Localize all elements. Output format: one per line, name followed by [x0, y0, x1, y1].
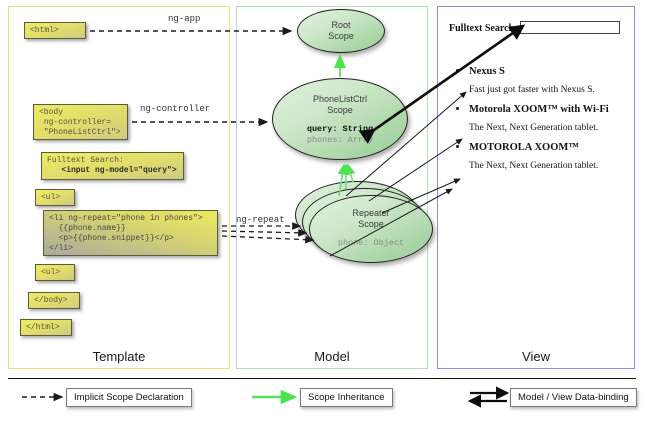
panel-template: Template [8, 6, 230, 369]
code-box-ul-close: <ul> [35, 264, 75, 281]
scope-phonelistctrl-prop-query: query: String [273, 124, 407, 135]
scope-phonelistctrl-title-2: Scope [273, 105, 407, 116]
list-item: Nexus S Fast just got faster with Nexus … [456, 65, 631, 96]
angularjs-architecture-diagram: Template Model View <html> <body ng-cont… [0, 0, 645, 425]
code-box-search-input-line1: Fulltext Search: [47, 156, 124, 165]
view-contents: Fulltext Search: Nexus S Fast just got f… [437, 6, 635, 369]
code-box-html-close: </html> [20, 319, 72, 336]
list-item-snippet: The Next, Next Generation tablet. [469, 160, 631, 172]
edge-label-ng-repeat: ng-repeat [236, 215, 285, 225]
code-box-body-open: <body ng-controller= "PhoneListCtrl"> [33, 104, 128, 140]
bullet-icon [456, 69, 459, 72]
list-item: Motorola XOOM™ with Wi-Fi The Next, Next… [456, 103, 631, 134]
scope-repeater: Repeater Scope phone: Object [309, 195, 433, 263]
list-item-snippet: Fast just got faster with Nexus S. [469, 84, 631, 96]
scope-phonelistctrl-prop-phones: phones: Array [273, 135, 407, 146]
scope-root-title-2: Scope [298, 31, 384, 42]
list-item-name: MOTOROLA XOOM™ [469, 141, 631, 154]
code-box-ul-open: <ul> [35, 189, 75, 206]
code-box-li-repeat: <li ng-repeat="phone in phones"> {{phone… [43, 210, 218, 256]
scope-root-title-1: Root [298, 10, 384, 31]
view-search-label: Fulltext Search: [449, 23, 517, 34]
view-search-input[interactable] [520, 21, 620, 34]
scope-repeater-title-1: Repeater [310, 196, 432, 219]
edge-label-ng-app: ng-app [168, 14, 200, 24]
code-box-search-input: Fulltext Search: <input ng-model="query"… [41, 152, 184, 180]
scope-repeater-title-2: Scope [310, 219, 432, 230]
scope-repeater-prop-phone: phone: Object [310, 238, 432, 249]
bullet-icon [456, 145, 459, 148]
list-item-snippet: The Next, Next Generation tablet. [469, 122, 631, 134]
list-item: MOTOROLA XOOM™ The Next, Next Generation… [456, 141, 631, 172]
code-box-html-open: <html> [24, 22, 86, 39]
code-box-body-close: </body> [28, 292, 80, 309]
list-item-name: Motorola XOOM™ with Wi-Fi [469, 103, 631, 116]
view-phone-list: Nexus S Fast just got faster with Nexus … [456, 65, 631, 179]
legend-scope-inheritance: Scope Inheritance [300, 388, 393, 407]
code-box-search-input-line2: <input ng-model="query"> [47, 166, 177, 175]
bullet-icon [456, 107, 459, 110]
list-item-name: Nexus S [469, 65, 631, 78]
scope-root: Root Scope [297, 9, 385, 53]
panel-label-template: Template [9, 349, 229, 364]
edge-label-ng-controller: ng-controller [140, 104, 210, 114]
scope-phonelistctrl-title-1: PhoneListCtrl [273, 79, 407, 105]
legend-implicit-scope-declaration: Implicit Scope Declaration [66, 388, 192, 407]
legend-data-binding: Model / View Data-binding [510, 388, 637, 407]
scope-phonelistctrl: PhoneListCtrl Scope query: String phones… [272, 78, 408, 160]
legend-divider [8, 378, 636, 379]
panel-label-model: Model [237, 349, 427, 364]
